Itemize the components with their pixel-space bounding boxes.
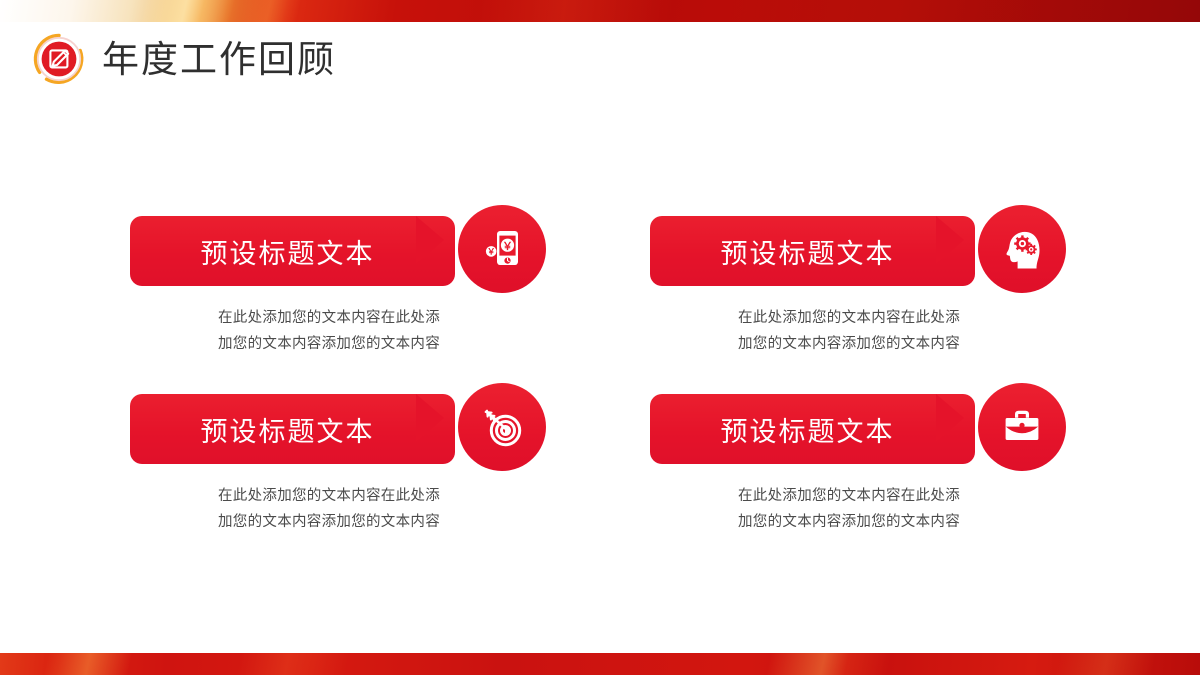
card-header: 预设标题文本 ￥ ￥: [120, 205, 580, 297]
head-gears-icon: [998, 225, 1046, 273]
edit-pencil-circle-icon: [32, 32, 86, 86]
card-target-arrow[interactable]: 预设标题文本: [120, 383, 580, 535]
page-title: 年度工作回顾: [102, 41, 336, 78]
card-briefcase[interactable]: 预设标题文本 在此处添加您的文本内容在此处添 加您的文本内容添加您的文本内容: [640, 383, 1100, 535]
card-body: 在此处添加您的文本内容在此处添 加您的文本内容添加您的文本内容: [120, 483, 494, 535]
title-ribbon[interactable]: 预设标题文本: [650, 216, 975, 286]
title-ribbon[interactable]: 预设标题文本: [130, 394, 455, 464]
card-body-line: 在此处添加您的文本内容在此处添: [164, 483, 494, 509]
card-body: 在此处添加您的文本内容在此处添 加您的文本内容添加您的文本内容: [120, 305, 494, 357]
card-body-line: 加您的文本内容添加您的文本内容: [684, 509, 1014, 535]
card-mobile-payment[interactable]: 预设标题文本 ￥ ￥ 在此处添加您的: [120, 205, 580, 357]
target-arrow-icon: [478, 403, 526, 451]
card-body-line: 加您的文本内容添加您的文本内容: [164, 331, 494, 357]
svg-text:￥: ￥: [487, 247, 495, 257]
icon-badge[interactable]: [978, 205, 1066, 293]
card-header: 预设标题文本: [640, 383, 1100, 475]
top-banner-shadow-overlay: [0, 0, 1200, 22]
card-title: 预设标题文本: [650, 394, 975, 464]
svg-text:￥: ￥: [502, 240, 513, 252]
card-title: 预设标题文本: [650, 216, 975, 286]
card-head-gears[interactable]: 预设标题文本: [640, 205, 1100, 357]
card-title: 预设标题文本: [130, 394, 455, 464]
card-header: 预设标题文本: [120, 383, 580, 475]
card-body-line: 在此处添加您的文本内容在此处添: [684, 305, 1014, 331]
card-title: 预设标题文本: [130, 216, 455, 286]
bottom-banner-gold-streak-4: [0, 653, 1200, 675]
page-header: 年度工作回顾: [32, 30, 336, 88]
edit-pencil-circle-icon-svg: [32, 32, 86, 86]
mobile-payment-icon: ￥ ￥: [479, 226, 525, 272]
bottom-decorative-banner: [0, 653, 1200, 675]
card-header: 预设标题文本: [640, 205, 1100, 297]
card-body-line: 在此处添加您的文本内容在此处添: [684, 483, 1014, 509]
top-decorative-banner: [0, 0, 1200, 22]
card-body-line: 加您的文本内容添加您的文本内容: [684, 331, 1014, 357]
title-ribbon[interactable]: 预设标题文本: [130, 216, 455, 286]
briefcase-icon: [999, 404, 1045, 450]
card-body: 在此处添加您的文本内容在此处添 加您的文本内容添加您的文本内容: [640, 305, 1014, 357]
card-body: 在此处添加您的文本内容在此处添 加您的文本内容添加您的文本内容: [640, 483, 1014, 535]
icon-badge[interactable]: ￥ ￥: [458, 205, 546, 293]
icon-badge[interactable]: [458, 383, 546, 471]
title-ribbon[interactable]: 预设标题文本: [650, 394, 975, 464]
card-body-line: 在此处添加您的文本内容在此处添: [164, 305, 494, 331]
icon-badge[interactable]: [978, 383, 1066, 471]
card-body-line: 加您的文本内容添加您的文本内容: [164, 509, 494, 535]
